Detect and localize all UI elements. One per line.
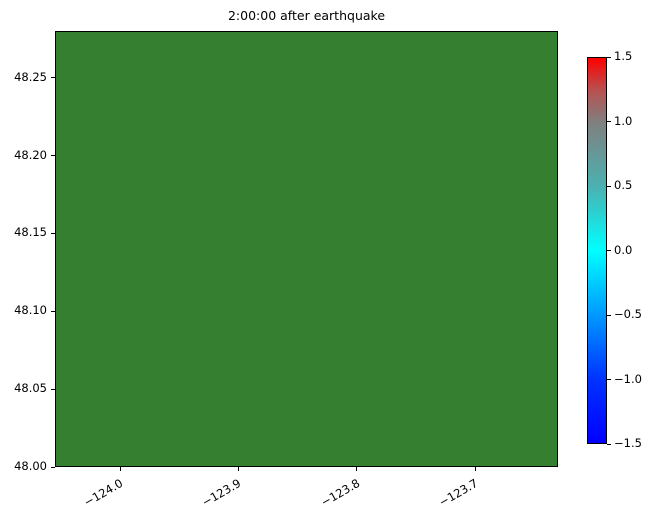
y-axis-tick-mark [51, 467, 55, 468]
colorbar-tick-mark [607, 57, 611, 58]
y-axis-tick-label: 48.15 [0, 225, 47, 239]
colorbar-tick-label: 0.0 [614, 243, 632, 257]
y-axis-tick-mark [51, 233, 55, 234]
y-axis-tick-mark [51, 77, 55, 78]
heatmap-surface [56, 32, 557, 466]
x-axis-tick-mark [120, 467, 121, 471]
y-axis-tick-mark [51, 311, 55, 312]
colorbar-tick-label: −0.5 [614, 307, 642, 321]
colorbar-tick-container: −1.5−1.0−0.50.00.51.01.5 [587, 57, 607, 444]
colorbar-tick-label: 0.5 [614, 178, 632, 192]
colorbar-tick-mark [607, 379, 611, 380]
x-axis-tick-mark [356, 467, 357, 471]
y-axis-tick-label: 48.05 [0, 381, 47, 395]
colorbar-tick-mark [607, 444, 611, 445]
colorbar-tick-mark [607, 121, 611, 122]
x-axis-tick-mark [238, 467, 239, 471]
y-axis-tick-label: 48.20 [0, 148, 47, 162]
colorbar-tick-mark [607, 250, 611, 251]
y-axis-tick-mark [51, 155, 55, 156]
matplotlib-figure: 2:00:00 after earthquake 48.0048.0548.10… [0, 0, 658, 520]
colorbar-tick-label: −1.0 [614, 372, 642, 386]
y-axis-tick-label: 48.10 [0, 303, 47, 317]
y-axis-tick-label: 48.25 [0, 70, 47, 84]
y-axis-tick-label: 48.00 [0, 459, 47, 473]
colorbar-tick-mark [607, 315, 611, 316]
colorbar-tick-label: 1.0 [614, 114, 632, 128]
colorbar-tick-label: 1.5 [614, 49, 632, 63]
y-axis-tick-mark [51, 389, 55, 390]
page-title: 2:00:00 after earthquake [55, 8, 558, 24]
colorbar-tick-mark [607, 186, 611, 187]
heatmap-plot-area [55, 31, 558, 467]
colorbar-tick-label: −1.5 [614, 436, 642, 450]
x-axis-tick-mark [475, 467, 476, 471]
